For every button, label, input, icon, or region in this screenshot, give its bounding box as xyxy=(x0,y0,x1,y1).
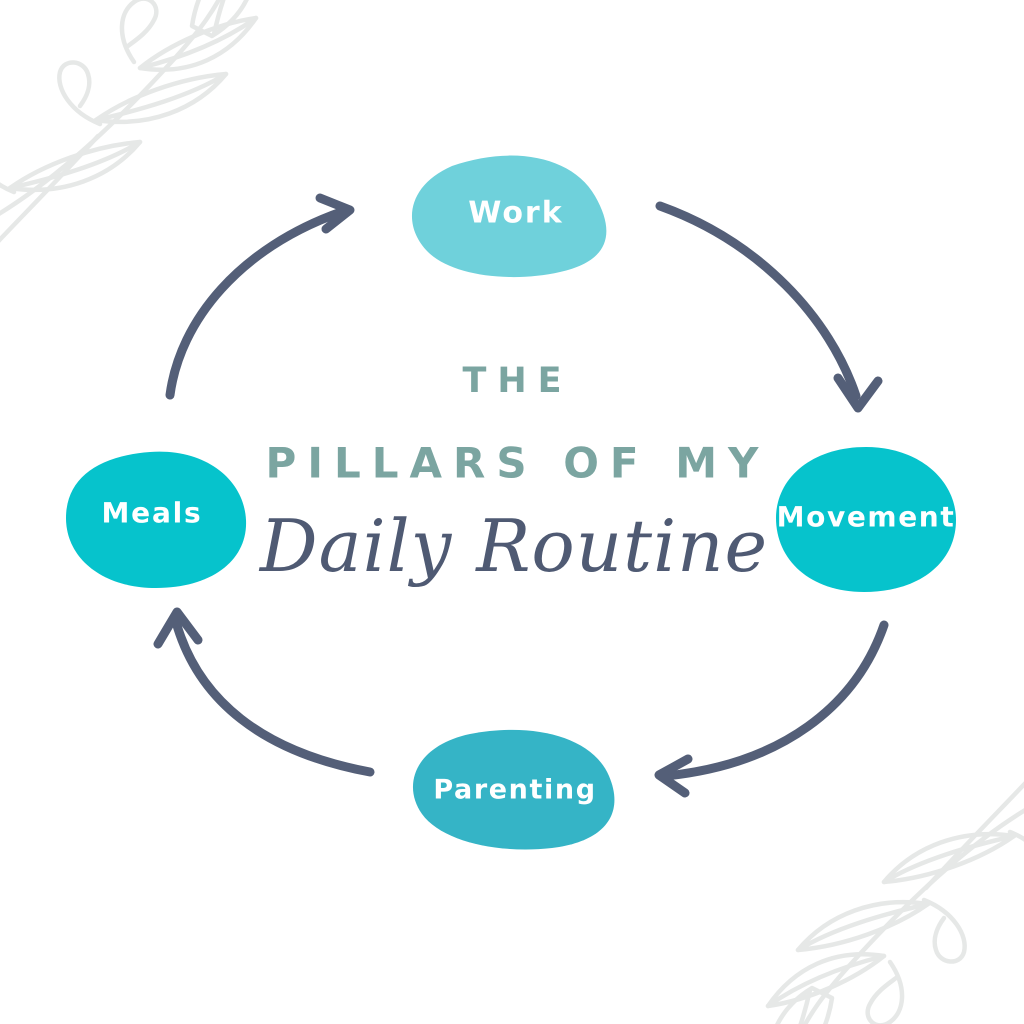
arrow-parenting-to-meals xyxy=(158,612,370,772)
infographic-canvas: Work Movement Parenting Meals THE PILLAR… xyxy=(0,0,1024,1024)
botanical-leaf-decoration-bottom-right xyxy=(768,774,1024,1024)
arrow-movement-to-parenting xyxy=(659,625,884,793)
diagram-artwork xyxy=(0,0,1024,1024)
node-blob-meals[interactable] xyxy=(66,452,246,588)
node-blob-work[interactable] xyxy=(412,156,606,278)
node-blob-parenting[interactable] xyxy=(413,730,614,850)
arrow-meals-to-work xyxy=(170,198,350,395)
botanical-leaf-decoration-top-left xyxy=(0,0,256,250)
arrow-work-to-movement xyxy=(660,206,878,408)
node-blob-movement[interactable] xyxy=(776,447,956,592)
cycle-arrows xyxy=(158,198,884,793)
